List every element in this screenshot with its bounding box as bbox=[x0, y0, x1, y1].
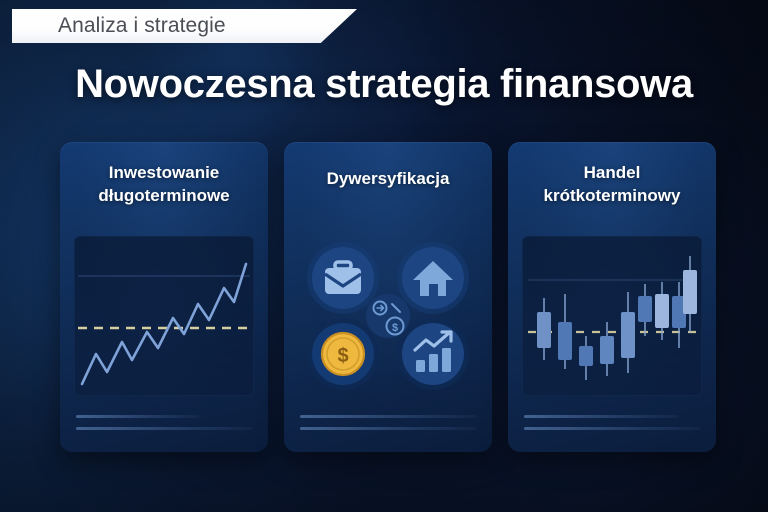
gold-coin-dollar-icon[interactable]: $ bbox=[312, 323, 374, 385]
icon-cluster: $ $ bbox=[298, 236, 478, 396]
page-title: Nowoczesna strategia finansowa bbox=[0, 62, 768, 107]
card-title-line-1: Handel bbox=[516, 162, 708, 185]
percent-dollar-icon[interactable]: $ bbox=[366, 294, 410, 338]
placeholder-line bbox=[524, 415, 679, 418]
card-inwestowanie-dlugoterminowe[interactable]: Inwestowanie długoterminowe bbox=[60, 142, 268, 452]
growth-bar-chart-icon[interactable] bbox=[402, 323, 464, 385]
placeholder-line bbox=[300, 427, 476, 430]
card-text-placeholder bbox=[76, 415, 252, 430]
card-title: Handel krótkoterminowy bbox=[516, 162, 708, 208]
card-title-line-1: Inwestowanie bbox=[68, 162, 260, 185]
category-banner: Analiza i strategie bbox=[12, 9, 357, 43]
card-title: Dywersyfikacja bbox=[292, 168, 484, 191]
placeholder-line bbox=[76, 427, 252, 430]
svg-text:$: $ bbox=[392, 322, 398, 334]
candlestick-chart-svg-right bbox=[522, 236, 702, 396]
category-banner-label: Analiza i strategie bbox=[12, 14, 226, 38]
icon-cluster-svg: $ $ bbox=[298, 236, 478, 396]
briefcase-icon[interactable] bbox=[312, 247, 374, 309]
placeholder-line bbox=[300, 415, 476, 418]
card-dywersyfikacja[interactable]: Dywersyfikacja bbox=[284, 142, 492, 452]
placeholder-line bbox=[524, 427, 700, 430]
placeholder-line bbox=[76, 415, 199, 418]
card-handel-krotkoterminowy[interactable]: Handel krótkoterminowy bbox=[508, 142, 716, 452]
line-chart-svg bbox=[74, 236, 254, 396]
card-title: Inwestowanie długoterminowe bbox=[68, 162, 260, 208]
card-text-placeholder bbox=[524, 415, 700, 430]
line-chart bbox=[74, 236, 254, 396]
card-title-line-2: krótkoterminowy bbox=[516, 185, 708, 208]
candlestick-chart bbox=[522, 236, 702, 396]
card-title-line-2: długoterminowe bbox=[68, 185, 260, 208]
cards-row: Inwestowanie długoterminowe Dywersyfikac… bbox=[60, 142, 718, 452]
chart-series-line bbox=[82, 264, 246, 384]
svg-text:$: $ bbox=[337, 345, 348, 367]
candle bbox=[683, 256, 697, 332]
card-title-line-1: Dywersyfikacja bbox=[292, 168, 484, 191]
house-icon[interactable] bbox=[402, 247, 464, 309]
card-text-placeholder bbox=[300, 415, 476, 430]
